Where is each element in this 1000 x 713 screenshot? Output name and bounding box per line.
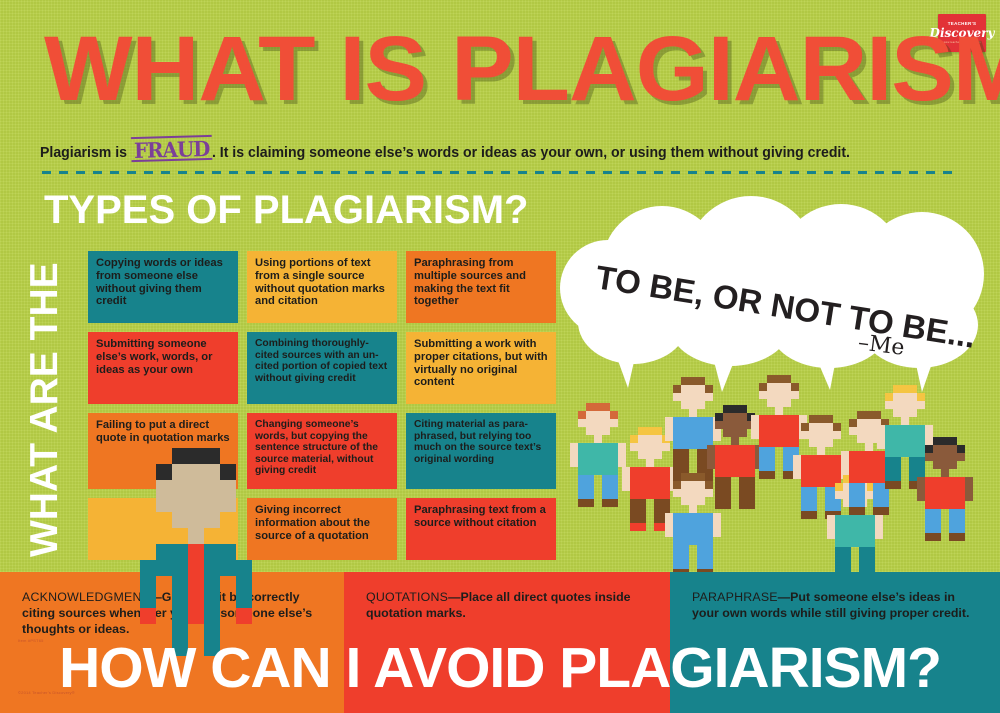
plagiarism-type-cell: Submitting someone else’s work, words, o… — [88, 332, 238, 404]
plagiarism-type-cell: Citing material as para-phrased, but rel… — [406, 413, 556, 489]
dashed-divider — [42, 171, 954, 174]
page-title: WHAT IS PLAGIARISM? — [44, 26, 1000, 113]
types-section-heading: TYPES OF PLAGIARISM? — [44, 190, 528, 230]
panel-acknowledgment-term: ACKNOWLEDGMENT — [22, 590, 149, 604]
infographic-poster: TEACHER'S Discovery www.teachersdiscover… — [0, 0, 1000, 713]
panel-quotations-text: QUOTATIONS—Place all direct quotes insid… — [344, 590, 670, 622]
copyright-notice: ©2014 Teacher’s Discovery® — [18, 690, 75, 695]
pixel-figure-student — [140, 448, 252, 578]
plagiarism-type-cell: Using portions of text from a single sou… — [247, 251, 397, 323]
plagiarism-type-cell: Paraphrasing from multiple sources and m… — [406, 251, 556, 323]
subtitle-after: . It is claiming someone else’s words or… — [212, 144, 850, 161]
panel-paraphrase-text: PARAPHRASE—Put someone else’s ideas in y… — [670, 590, 1000, 622]
fraud-stamp: FRAUD — [132, 137, 212, 161]
avoid-section-title: HOW CAN I AVOID PLAGIARISM? — [0, 640, 1000, 697]
speech-bubble-group — [560, 196, 1000, 391]
plagiarism-type-cell: Combining thoroughly-cited sources with … — [247, 332, 397, 404]
plagiarism-type-cell: Paraphrasing text from a source without … — [406, 498, 556, 560]
panel-quotations-dash: — — [448, 590, 460, 604]
panel-paraphrase-dash: — — [778, 590, 790, 604]
item-code: Item #PST65 — [18, 638, 44, 643]
plagiarism-type-cell: Copying words or ideas from someone else… — [88, 251, 238, 323]
vertical-label-what-are-the: WHAT ARE THE — [20, 247, 70, 557]
plagiarism-type-cell: Submitting a work with proper citations,… — [406, 332, 556, 404]
panel-paraphrase-term: PARAPHRASE — [692, 590, 778, 604]
subtitle: Plagiarism is FRAUD . It is claiming som… — [40, 138, 850, 161]
panel-quotations-term: QUOTATIONS — [366, 590, 448, 604]
plagiarism-type-cell: Changing someone’s words, but copying th… — [247, 413, 397, 489]
subtitle-before: Plagiarism is — [40, 144, 127, 161]
pixel-crowd — [565, 375, 1000, 575]
plagiarism-type-cell: Giving incorrect information about the s… — [247, 498, 397, 560]
